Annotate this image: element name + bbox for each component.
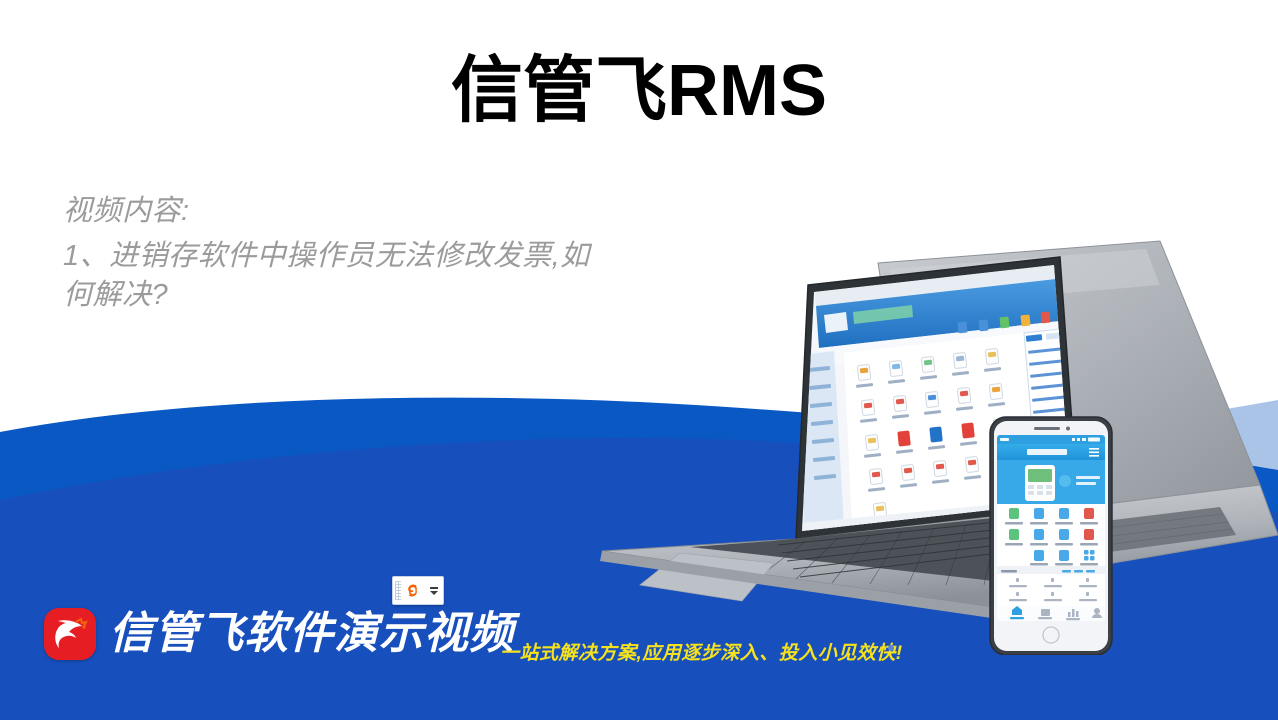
phone-device: [990, 417, 1112, 655]
ime-menu-icon[interactable]: [430, 587, 438, 595]
sogou-logo-icon[interactable]: [404, 582, 421, 599]
phone-earpiece: [1034, 427, 1060, 430]
brand-tagline-text: 一站式解决方案,应用逐步深入、投入小见效快!: [500, 638, 903, 665]
phone-screen-content: [997, 435, 1105, 621]
phone-app-title: [1027, 449, 1067, 455]
device-mockup-group: [560, 235, 1278, 655]
ime-drag-handle[interactable]: [395, 581, 401, 600]
content-heading: 视频内容:: [63, 192, 753, 231]
brand-banner: 信管飞软件演示视频: [44, 608, 514, 660]
ime-floating-toolbar[interactable]: [392, 576, 444, 605]
slide-canvas: 信管飞RMS 视频内容: 1、进销存软件中操作员无法修改发票,如 何解决?: [0, 0, 1278, 720]
phone-front-camera: [1066, 427, 1070, 431]
phone-menu-icon: [1089, 448, 1099, 457]
app-logo-chip: [824, 312, 848, 333]
brand-name-text: 信管飞软件演示视频: [109, 612, 514, 656]
brand-logo-icon: [44, 608, 96, 660]
page-title: 信管飞RMS: [0, 52, 1278, 131]
decorative-dot: [888, 645, 894, 651]
phone-home-button: [1043, 627, 1059, 643]
